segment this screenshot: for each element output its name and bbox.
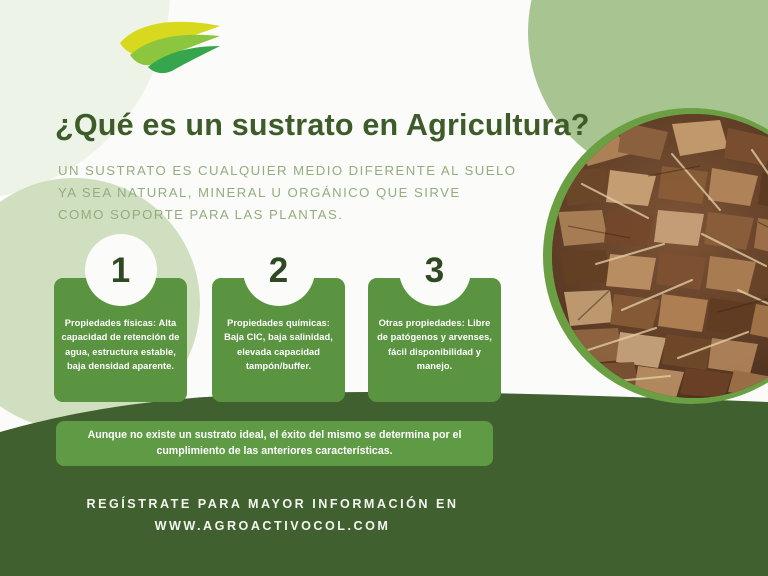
page-subtitle: UN SUSTRATO ES CUALQUIER MEDIO DIFERENTE… xyxy=(58,160,558,226)
card-text: Propiedades químicas: Baja CIC, baja sal… xyxy=(219,316,338,374)
agroactivo-leaf-logo xyxy=(116,13,224,75)
footer-website-url[interactable]: WWW.AGROACTIVOCOL.COM xyxy=(0,519,545,533)
card-number-badge: 2 xyxy=(243,234,315,306)
conclusion-banner-text: Aunque no existe un sustrato ideal, el é… xyxy=(56,428,493,459)
card-text: Otras propiedades: Libre de patógenos y … xyxy=(375,316,494,374)
card-text: Propiedades físicas: Alta capacidad de r… xyxy=(61,316,180,374)
property-cards: 1 Propiedades físicas: Alta capacidad de… xyxy=(54,278,532,402)
subtitle-line-3: COMO SOPORTE PARA LAS PLANTAS. xyxy=(58,204,558,226)
property-card-1[interactable]: 1 Propiedades físicas: Alta capacidad de… xyxy=(54,278,187,402)
infographic-poster: ¿Qué es un sustrato en Agricultura? UN S… xyxy=(0,0,768,576)
conclusion-banner: Aunque no existe un sustrato ideal, el é… xyxy=(56,421,493,466)
subtitle-line-2: YA SEA NATURAL, MINERAL U ORGÁNICO QUE S… xyxy=(58,182,558,204)
property-card-2[interactable]: 2 Propiedades químicas: Baja CIC, baja s… xyxy=(212,278,345,402)
property-card-3[interactable]: 3 Otras propiedades: Libre de patógenos … xyxy=(368,278,501,402)
card-number-badge: 3 xyxy=(399,234,471,306)
page-title: ¿Qué es un sustrato en Agricultura? xyxy=(55,108,575,143)
card-number-badge: 1 xyxy=(85,234,157,306)
footer-cta-text: REGÍSTRATE PARA MAYOR INFORMACIÓN EN xyxy=(0,497,545,511)
footer: REGÍSTRATE PARA MAYOR INFORMACIÓN EN WWW… xyxy=(0,497,545,533)
subtitle-line-1: UN SUSTRATO ES CUALQUIER MEDIO DIFERENTE… xyxy=(58,160,558,182)
